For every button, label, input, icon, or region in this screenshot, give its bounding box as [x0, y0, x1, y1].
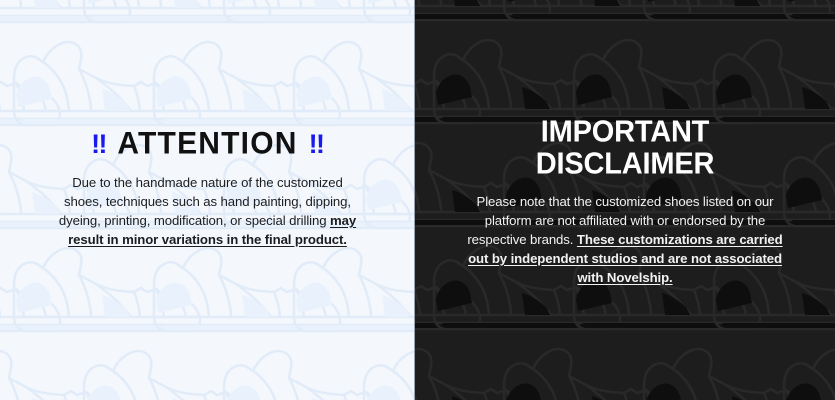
disclaimer-content: IMPORTANT DISCLAIMER Please note that th…: [415, 118, 835, 287]
disclaimer-panel: IMPORTANT DISCLAIMER Please note that th…: [415, 0, 835, 400]
attention-heading: ‼ ATTENTION ‼: [28, 129, 387, 159]
disclaimer-heading: IMPORTANT DISCLAIMER: [441, 116, 809, 180]
attention-body: Due to the handmade nature of the custom…: [53, 173, 363, 249]
disclaimer-body: Please note that the customized shoes li…: [465, 192, 785, 287]
attention-body-normal: Due to the handmade nature of the custom…: [59, 175, 351, 228]
double-exclamation-right-icon: ‼: [309, 131, 324, 158]
attention-heading-word: ATTENTION: [117, 128, 297, 159]
panel-divider: [414, 0, 415, 400]
attention-panel: ‼ ATTENTION ‼ Due to the handmade nature…: [0, 0, 415, 400]
disclaimer-heading-line1: IMPORTANT: [441, 116, 809, 148]
double-exclamation-left-icon: ‼: [91, 131, 106, 158]
attention-content: ‼ ATTENTION ‼ Due to the handmade nature…: [0, 129, 415, 249]
disclaimer-heading-line2: DISCLAIMER: [441, 148, 809, 180]
disclaimer-banner: ‼ ATTENTION ‼ Due to the handmade nature…: [0, 0, 835, 400]
